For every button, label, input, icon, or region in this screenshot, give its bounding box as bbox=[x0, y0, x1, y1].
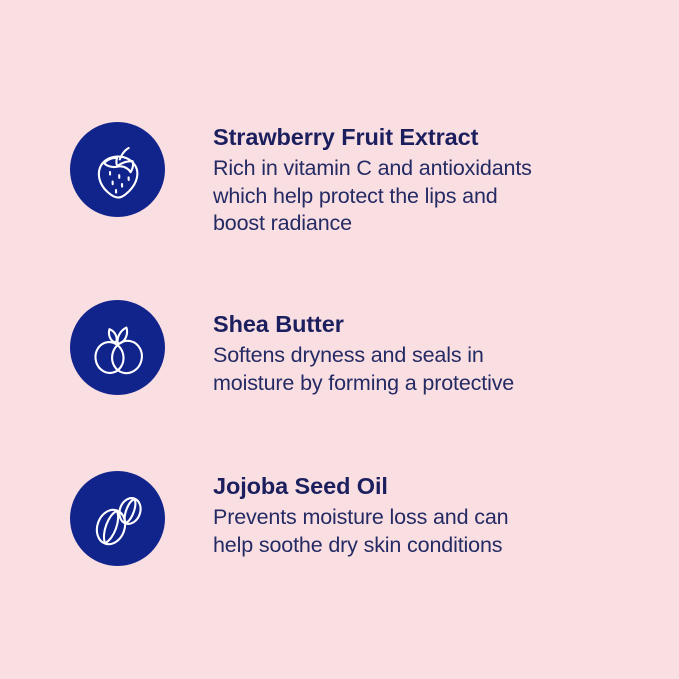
description-line: moisture by forming a protective bbox=[213, 370, 514, 398]
shea-nut-icon-badge bbox=[70, 300, 165, 395]
description-line: boost radiance bbox=[213, 210, 532, 238]
feature-text-strawberry: Strawberry Fruit Extract Rich in vitamin… bbox=[213, 122, 532, 238]
feature-title: Strawberry Fruit Extract bbox=[213, 122, 532, 152]
feature-item-shea-butter: Shea Butter Softens dryness and seals in… bbox=[70, 300, 514, 397]
feature-description: Rich in vitamin C and antioxidants which… bbox=[213, 155, 532, 238]
feature-description: Softens dryness and seals in moisture by… bbox=[213, 342, 514, 397]
feature-text-jojoba-seed-oil: Jojoba Seed Oil Prevents moisture loss a… bbox=[213, 471, 508, 559]
shea-nut-icon bbox=[87, 317, 149, 379]
feature-item-strawberry: Strawberry Fruit Extract Rich in vitamin… bbox=[70, 122, 532, 238]
feature-item-jojoba-seed-oil: Jojoba Seed Oil Prevents moisture loss a… bbox=[70, 471, 508, 566]
feature-text-shea-butter: Shea Butter Softens dryness and seals in… bbox=[213, 300, 514, 397]
strawberry-icon bbox=[88, 139, 148, 201]
description-line: Prevents moisture loss and can bbox=[213, 504, 508, 532]
jojoba-seed-icon-badge bbox=[70, 471, 165, 566]
feature-list: Strawberry Fruit Extract Rich in vitamin… bbox=[0, 0, 679, 679]
description-line: Rich in vitamin C and antioxidants bbox=[213, 155, 532, 183]
jojoba-seed-icon bbox=[86, 487, 150, 551]
ingredient-benefits-panel: Strawberry Fruit Extract Rich in vitamin… bbox=[0, 0, 679, 679]
description-line: Softens dryness and seals in bbox=[213, 342, 514, 370]
feature-title: Jojoba Seed Oil bbox=[213, 471, 508, 501]
feature-title: Shea Butter bbox=[213, 309, 514, 339]
description-line: help soothe dry skin conditions bbox=[213, 532, 508, 560]
feature-description: Prevents moisture loss and can help soot… bbox=[213, 504, 508, 559]
strawberry-icon-badge bbox=[70, 122, 165, 217]
description-line: which help protect the lips and bbox=[213, 183, 532, 211]
